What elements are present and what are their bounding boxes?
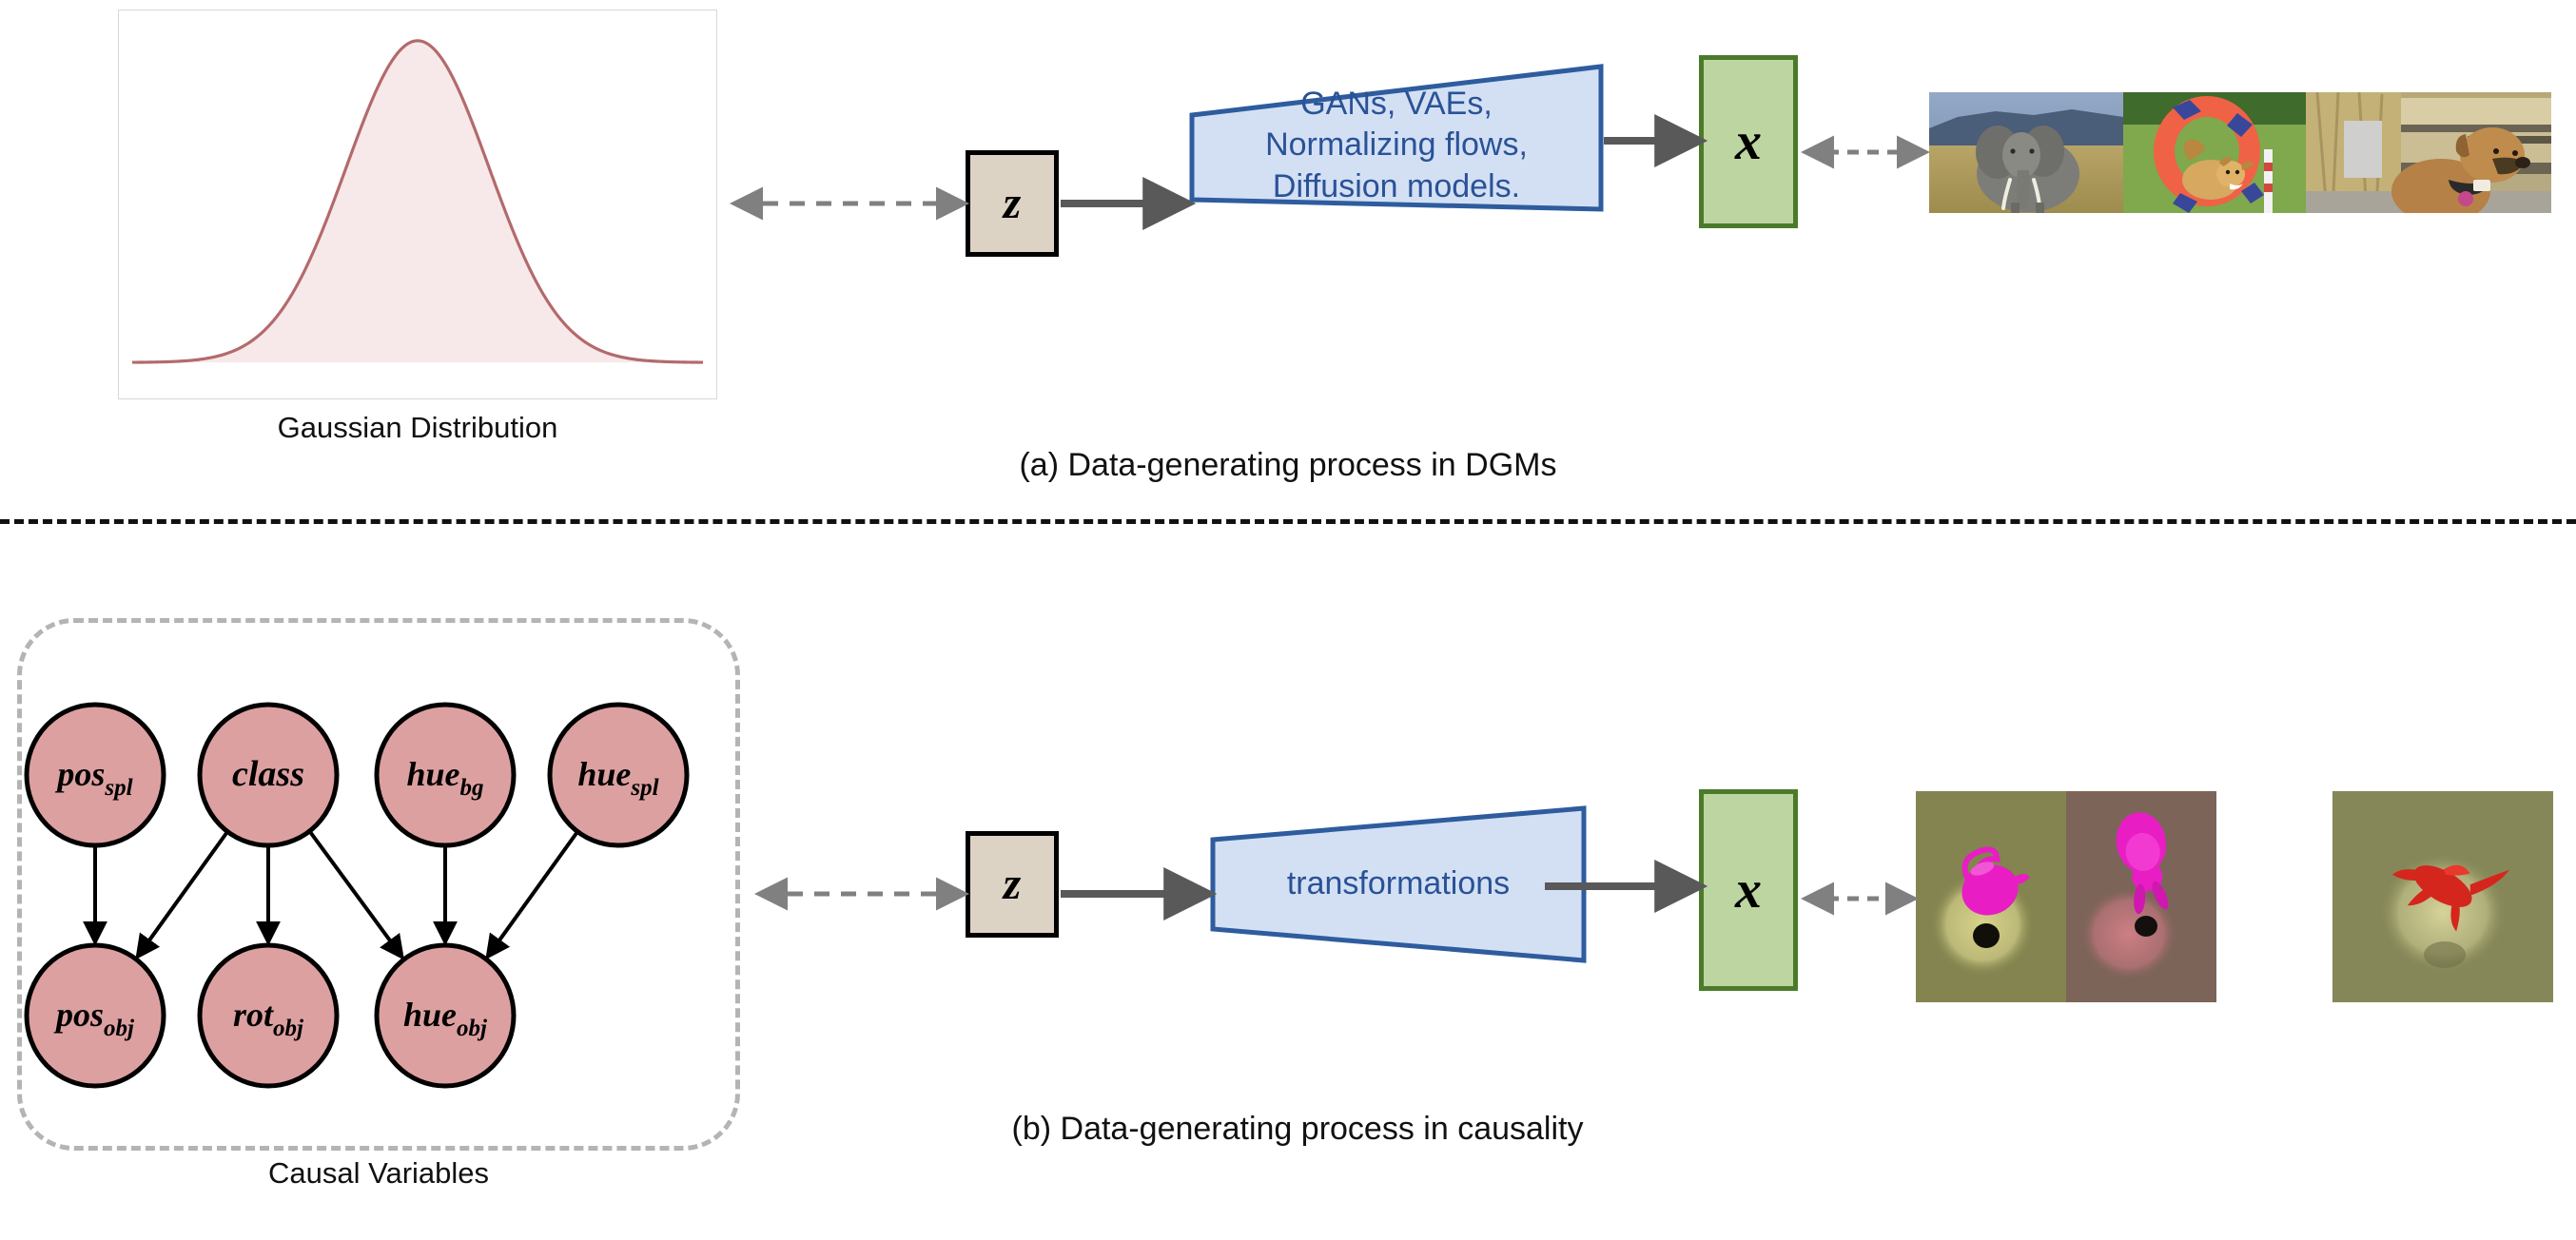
causal-node-hue_obj: hueobj [377,945,514,1086]
causal-graph: possplclasshuebghuesplposobjrotobjhueobj [0,609,761,1170]
latent-variable-label-b: z [1004,862,1022,907]
latent-variable-box-a: z [966,150,1059,257]
causal-graph-caption: Causal Variables [17,1156,740,1191]
dog-jumping-through-ring-photo [2123,92,2306,213]
transformations-trapezoid-b: transformations [1208,804,1589,965]
panel-divider [0,519,2576,524]
latent-variable-box-b: z [966,831,1059,938]
gaussian-plot-caption: Gaussian Distribution [118,411,717,445]
gaussian-curve [119,10,716,398]
red-dragon-render [2332,791,2553,1002]
observed-variable-box-b: x [1699,789,1798,991]
causal-node-pos_obj: posobj [27,945,164,1086]
causal-node-hue_bg: huebg [377,705,514,845]
causal-edge-class-to-pos_obj [138,832,227,957]
brown-dog-on-porch-photo [2306,92,2551,213]
causal-node-rot_obj: rotobj [200,945,337,1086]
causal-node-label-class: class [232,754,304,794]
pink-teapot-render [1916,791,2066,1002]
panel-a-caption: (a) Data-generating process in DGMs [888,447,1688,484]
pink-bunny-render [2066,791,2216,1002]
causal-edge-class-to-hue_obj [309,831,401,957]
observed-variable-label-a: x [1735,115,1762,168]
generative-model-trapezoid-a: GANs, VAEs, Normalizing flows, Diffusion… [1187,62,1606,214]
latent-variable-label-a: z [1004,181,1022,226]
observed-variable-label-b: x [1735,863,1762,917]
causal-node-hue_spl: huespl [550,705,687,845]
elephant-photo [1929,92,2123,213]
panel-b-caption: (b) Data-generating process in causality [898,1111,1697,1148]
causal-node-pos_spl: posspl [27,705,164,845]
observed-variable-box-a: x [1699,55,1798,228]
causal-node-class: class [200,705,337,845]
causal-edge-hue_spl-to-hue_obj [488,832,577,957]
gaussian-plot-frame [118,10,717,399]
